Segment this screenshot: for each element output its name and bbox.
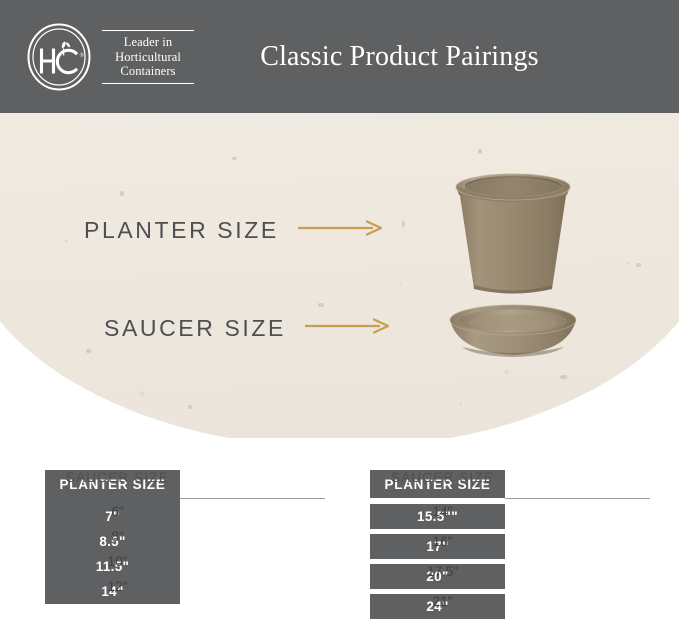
cell-saucer-size: 10" xyxy=(45,554,190,569)
texture-speck xyxy=(188,405,192,409)
size-table-large: PLANTER SIZE SAUCER SIZE 15.5"" 14" 17" … xyxy=(370,470,650,624)
texture-speck xyxy=(232,157,237,160)
texture-speck xyxy=(636,263,641,267)
tagline-line-2: Horticultural xyxy=(102,50,194,65)
table-row: 24" 21" xyxy=(370,594,650,619)
texture-speck xyxy=(560,375,567,379)
svg-text:®: ® xyxy=(80,52,85,59)
texture-speck xyxy=(120,191,124,196)
cell-saucer-size: 8" xyxy=(45,529,190,544)
arrow-right-icon xyxy=(297,220,383,241)
cell-saucer-size: 16" xyxy=(370,534,515,549)
hc-monogram-icon: ® xyxy=(26,22,92,92)
cell-saucer-size: 6" xyxy=(45,504,190,519)
planter-size-callout: PLANTER SIZE xyxy=(84,217,383,244)
column-header-saucer: SAUCER SIZE xyxy=(45,470,190,485)
arrow-right-icon xyxy=(304,318,390,339)
tagline-line-3: Containers xyxy=(102,64,194,79)
texture-speck xyxy=(478,149,482,154)
table-row: 17" 16" xyxy=(370,534,650,559)
hero-panel: PLANTER SIZE xyxy=(0,113,679,438)
cell-saucer-size: 17.5" xyxy=(370,564,515,579)
cell-saucer-size: 12" xyxy=(45,579,190,594)
size-table-small: PLANTER SIZE SAUCER SIZE 7" 6" 8.5" 8" 1… xyxy=(45,470,325,604)
table-header-row: PLANTER SIZE SAUCER SIZE xyxy=(45,470,325,498)
table-row: 8.5" 8" xyxy=(45,529,325,554)
texture-speck xyxy=(402,221,405,227)
texture-speck xyxy=(86,349,91,353)
column-header-saucer: SAUCER SIZE xyxy=(370,470,515,485)
brand-tagline: Leader in Horticultural Containers xyxy=(102,30,194,84)
table-row: 20" 17.5" xyxy=(370,564,650,589)
saucer-size-callout: SAUCER SIZE xyxy=(104,315,390,342)
table-body: 15.5"" 14" 17" 16" 20" 17.5" 24" 21" xyxy=(370,498,650,619)
table-row: 7" 6" xyxy=(45,504,325,529)
cell-saucer-size: 14" xyxy=(370,504,515,519)
cell-saucer-size: 21" xyxy=(370,594,515,609)
page-header: ® Leader in Horticultural Containers Cla… xyxy=(0,0,679,113)
planter-size-label: PLANTER SIZE xyxy=(84,217,279,244)
table-body: 7" 6" 8.5" 8" 11.5" 10" 14" 12" xyxy=(45,498,325,604)
planter-pot-image xyxy=(440,165,586,310)
saucer-size-label: SAUCER SIZE xyxy=(104,315,286,342)
brand-logo: ® Leader in Horticultural Containers xyxy=(26,22,194,92)
table-row: 14" 12" xyxy=(45,579,325,604)
saucer-dish-image xyxy=(440,299,586,374)
tagline-line-1: Leader in xyxy=(102,35,194,50)
table-row: 11.5" 10" xyxy=(45,554,325,579)
table-header-row: PLANTER SIZE SAUCER SIZE xyxy=(370,470,650,498)
texture-speck xyxy=(318,303,324,307)
table-row: 15.5"" 14" xyxy=(370,504,650,529)
size-tables: PLANTER SIZE SAUCER SIZE 7" 6" 8.5" 8" 1… xyxy=(0,470,679,636)
